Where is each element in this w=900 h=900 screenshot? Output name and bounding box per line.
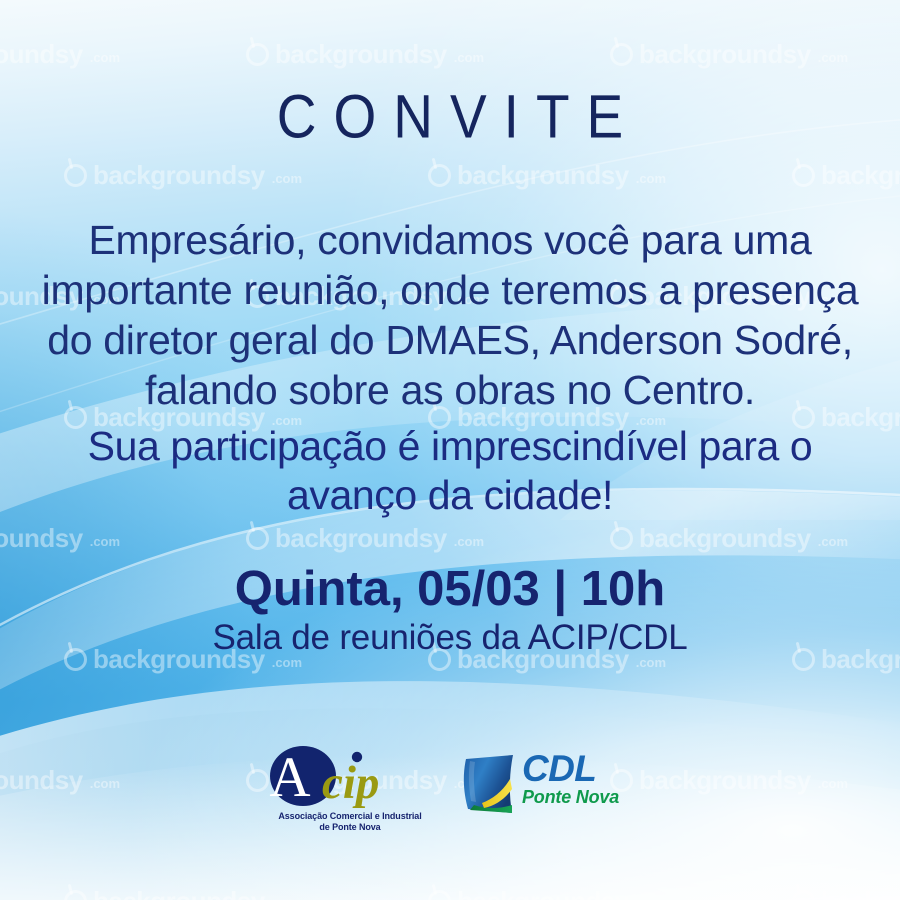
body-line: Empresário, convidamos você para uma [40,215,860,265]
acip-logo: A cip Associação Comercial e Industrial … [262,746,438,834]
body-line: do diretor geral do DMAES, Anderson Sodr… [40,315,860,365]
svg-text:A: A [269,746,310,808]
svg-text:cip: cip [322,757,379,808]
logo-row: A cip Associação Comercial e Industrial … [0,746,900,834]
invitation-body: Empresário, convidamos você para uma imp… [40,215,860,520]
body-paragraph-emphasis: Sua participação é imprescindível para o… [40,422,860,520]
body-line: falando sobre as obras no Centro. [40,365,860,415]
invitation-poster: backgroundsy.combackgroundsy.combackgrou… [0,0,900,900]
cdl-wordmark: CDL Ponte Nova [522,750,619,806]
cdl-flag-icon [460,751,520,817]
acip-tagline: Associação Comercial e Industrial de Pon… [278,811,421,834]
body-paragraph-primary: Empresário, convidamos você para uma imp… [40,215,860,415]
event-location: Sala de reuniões da ACIP/CDL [0,618,900,657]
cdl-logo: CDL Ponte Nova [460,749,638,815]
event-details: Quinta, 05/03 | 10h Sala de reuniões da … [0,564,900,657]
acip-logo-mark: A cip [262,746,438,808]
page-title: CONVITE [260,86,640,148]
body-line: avanço da cidade! [40,471,860,520]
body-line: Sua participação é imprescindível para o [40,422,860,471]
cdl-city: Ponte Nova [522,788,619,806]
event-datetime: Quinta, 05/03 | 10h [0,564,900,616]
acip-tagline-line1: Associação Comercial e Industrial [278,811,421,822]
cdl-name: CDL [522,750,619,787]
poster-content: CONVITE Empresário, convidamos você para… [0,0,900,900]
body-line: importante reunião, onde teremos a prese… [40,265,860,315]
acip-tagline-line2: de Ponte Nova [278,822,421,833]
